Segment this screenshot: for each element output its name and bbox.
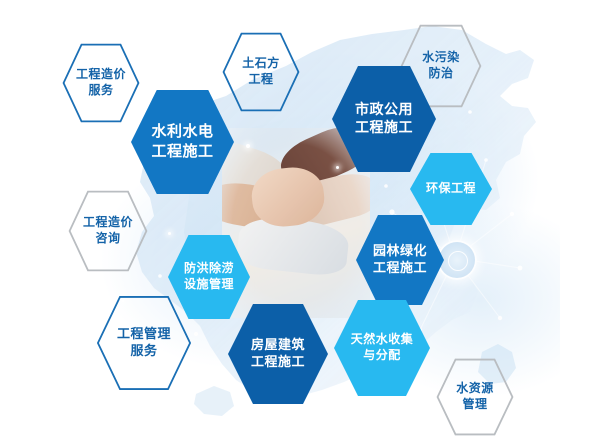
infographic-canvas: 工程造价 服务土石方 工程水污染 防治市政公用 工程施工水利水电 工程施工环保工… xyxy=(0,0,600,439)
hex-landscaping-engineering-label: 园林绿化 工程施工 xyxy=(373,243,427,277)
hex-water-resource-management[interactable]: 水资源 管理 xyxy=(436,358,514,436)
hex-water-conservancy-hydropower-label: 水利水电 工程施工 xyxy=(151,122,213,162)
hex-engineering-cost-consulting[interactable]: 工程造价 咨询 xyxy=(68,190,148,272)
hex-engineering-management-service-label: 工程管理 服务 xyxy=(117,326,171,360)
hex-engineering-cost-service-label: 工程造价 服务 xyxy=(76,67,126,99)
hex-engineering-cost-service[interactable]: 工程造价 服务 xyxy=(62,43,140,123)
hex-natural-water-collection-distribution-label: 天然水收集 与分配 xyxy=(351,332,414,364)
hex-earthwork-engineering-label: 土石方 工程 xyxy=(242,56,280,88)
hex-municipal-public-works-label: 市政公用 工程施工 xyxy=(355,101,413,138)
hex-earthwork-engineering[interactable]: 土石方 工程 xyxy=(222,32,300,112)
hex-building-construction-engineering-label: 房屋建筑 工程施工 xyxy=(251,337,305,371)
hex-flood-control-drainage-facilities-label: 防洪除涝 设施管理 xyxy=(184,261,234,293)
hex-water-resource-management-label: 水资源 管理 xyxy=(456,381,494,413)
hex-engineering-cost-consulting-label: 工程造价 咨询 xyxy=(83,215,133,247)
stacked-hands-teamwork-photo xyxy=(222,128,370,318)
hex-environmental-protection-engineering-label: 环保工程 xyxy=(426,181,476,197)
hex-water-pollution-control-label: 水污染 防治 xyxy=(422,50,460,82)
hex-engineering-management-service[interactable]: 工程管理 服务 xyxy=(96,295,192,391)
